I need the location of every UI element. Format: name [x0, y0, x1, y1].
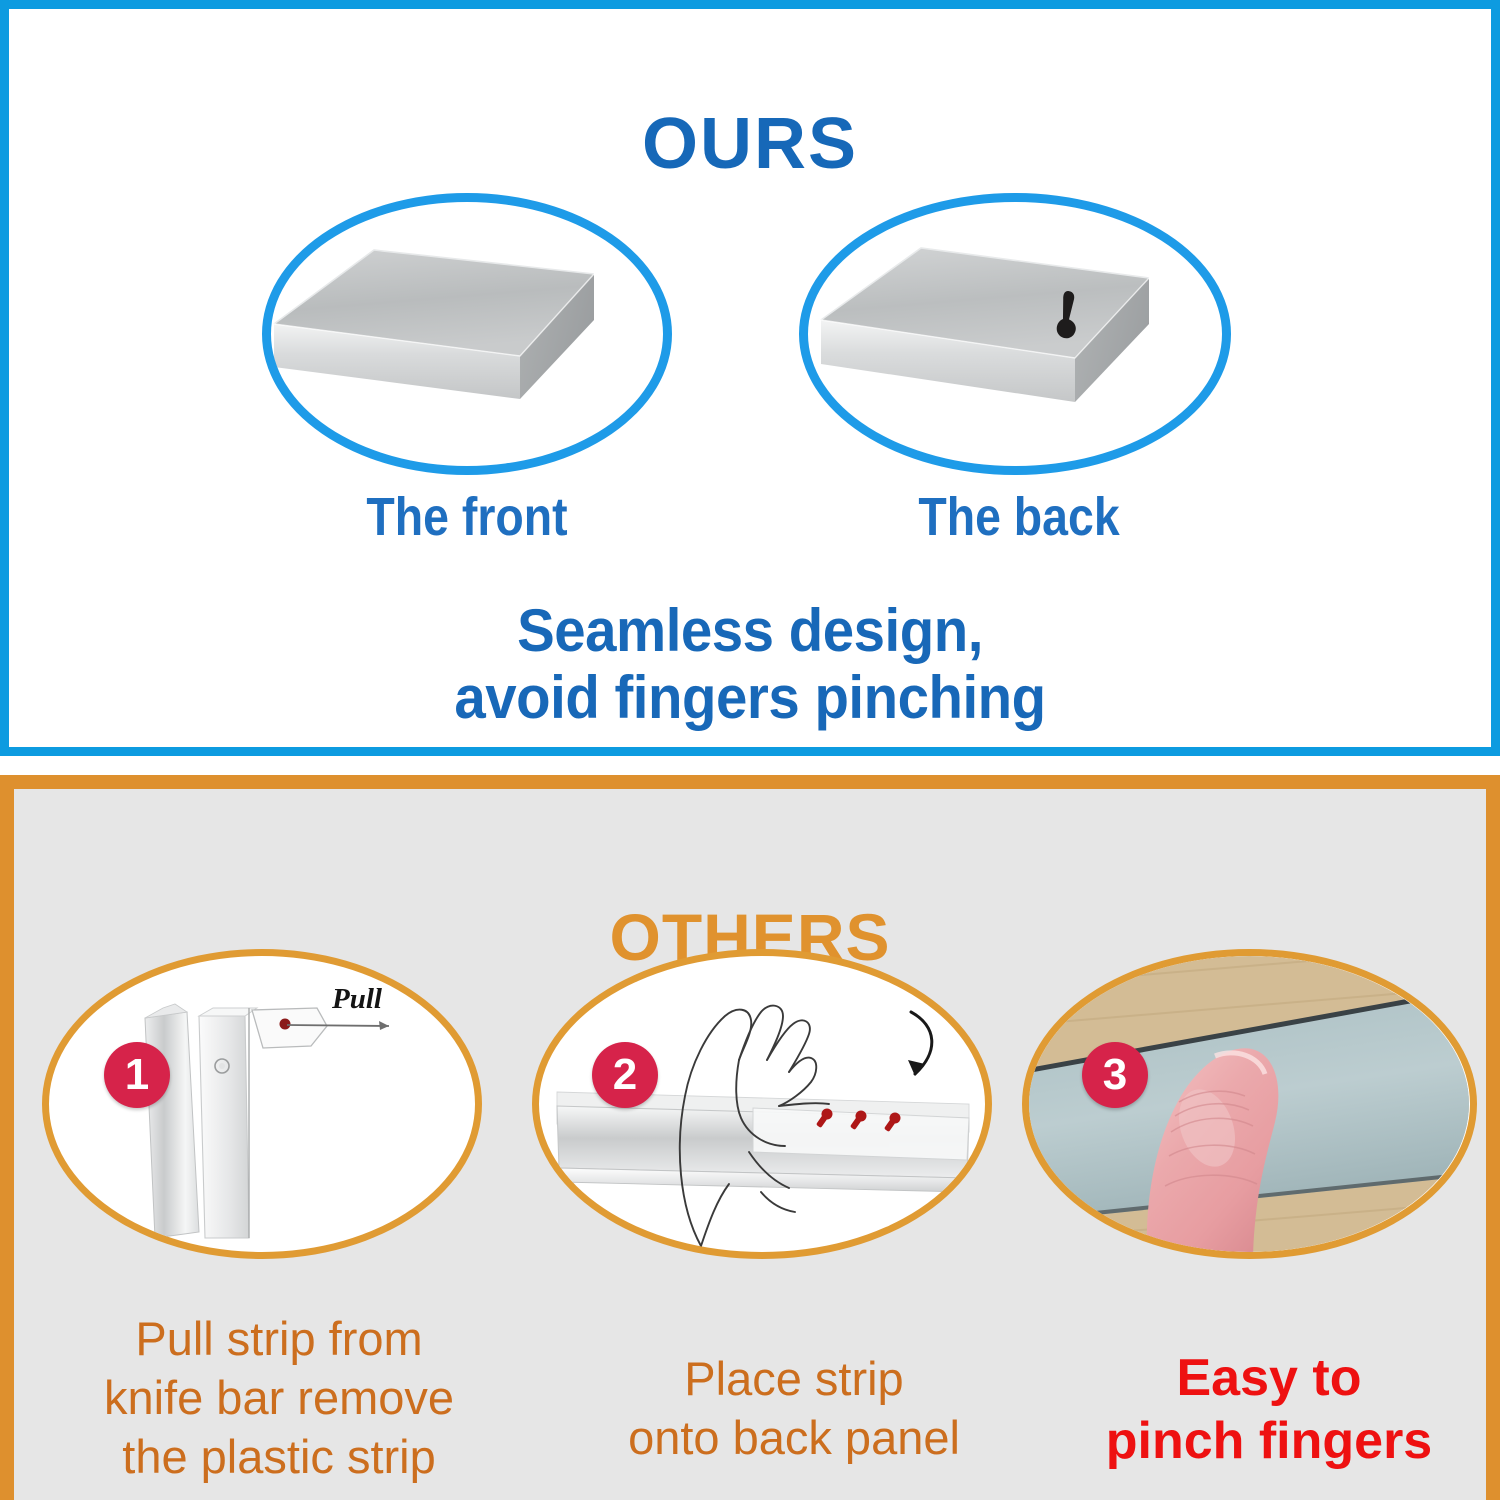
step-caption-3-line-1: Easy to	[1034, 1347, 1500, 1410]
others-panel: OTHERS	[0, 775, 1500, 1500]
ours-tagline-line-1: Seamless design,	[53, 597, 1446, 664]
step-oval-3	[1022, 949, 1477, 1259]
step-caption-2-line-2: onto back panel	[554, 1408, 1034, 1467]
oval-frame-front	[262, 193, 672, 475]
step-caption-1-line-2: knife bar remove	[24, 1368, 534, 1427]
step-caption-1: Pull strip from knife bar remove the pla…	[24, 1309, 534, 1487]
step-badge-2: 2	[592, 1042, 658, 1108]
step-badge-3: 3	[1082, 1042, 1148, 1108]
pull-annotation: Pull	[331, 983, 383, 1015]
step-caption-2: Place strip onto back panel	[554, 1349, 1034, 1467]
step-oval-1: Pull	[42, 949, 482, 1259]
ours-title: OURS	[9, 103, 1491, 185]
ours-panel: OURS	[0, 0, 1500, 756]
caption-back: The back	[869, 486, 1170, 548]
ours-tagline: Seamless design, avoid fingers pinching	[9, 597, 1491, 731]
step-caption-3-line-2: pinch fingers	[1034, 1410, 1500, 1473]
step-oval-2	[532, 949, 992, 1259]
step-badge-1: 1	[104, 1042, 170, 1108]
step-caption-1-line-3: the plastic strip	[24, 1427, 534, 1486]
step-caption-1-line-1: Pull strip from	[24, 1309, 534, 1368]
step-caption-2-line-1: Place strip	[554, 1349, 1034, 1408]
step-caption-3-warning: Easy to pinch fingers	[1034, 1347, 1500, 1474]
caption-front: The front	[317, 486, 618, 548]
ours-tagline-line-2: avoid fingers pinching	[53, 664, 1446, 731]
oval-frame-back	[799, 193, 1231, 475]
